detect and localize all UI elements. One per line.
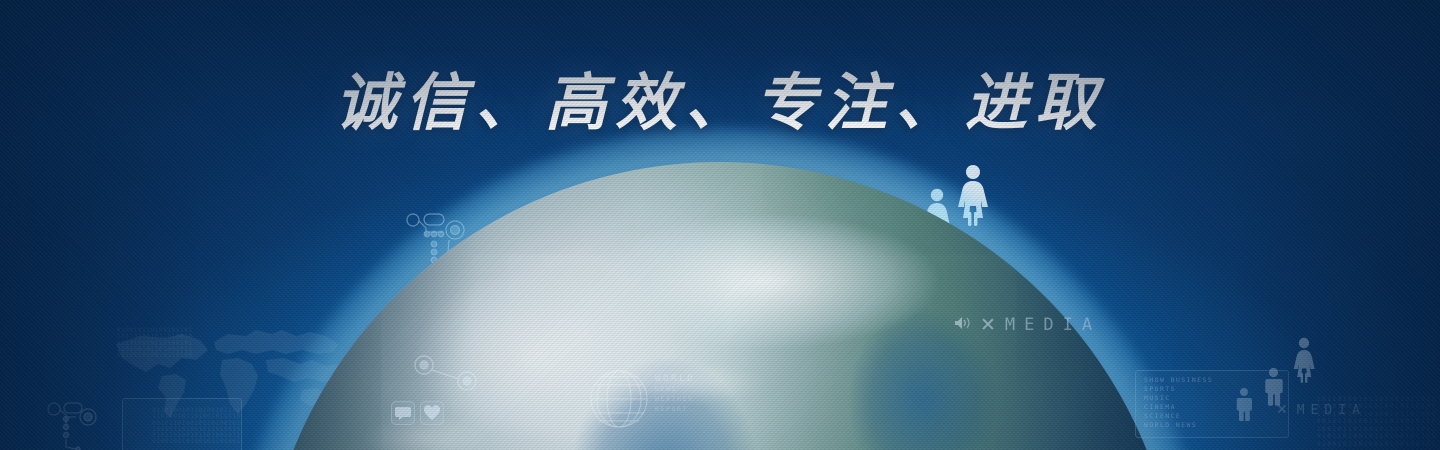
hero-banner: 0100101101001011010010110100101101001011… bbox=[0, 0, 1440, 450]
background-vignette bbox=[0, 0, 1440, 450]
